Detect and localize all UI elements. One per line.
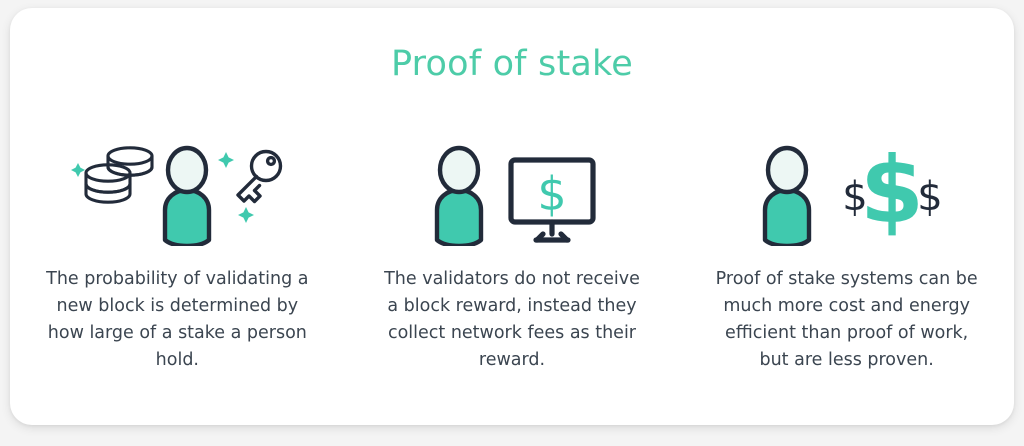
monitor-dollar-icon: $ [511, 160, 593, 240]
person-icon [765, 148, 809, 246]
sparkle-icon [218, 152, 234, 168]
caption-validators: The validators do not receive a block re… [377, 266, 647, 374]
columns-container: The probability of validating a new bloc… [10, 138, 1014, 374]
column-validators: $ The validators do not receive a block … [362, 138, 662, 374]
icon-group-validators: $ [424, 138, 600, 248]
proof-of-stake-card: Proof of stake [10, 8, 1014, 425]
column-efficiency: $ $ $ Proof of stake systems can be much… [697, 138, 997, 374]
coin-stack-icon [86, 148, 152, 202]
key-icon [238, 152, 281, 202]
caption-probability: The probability of validating a new bloc… [42, 266, 312, 374]
icon-group-efficiency: $ $ $ [752, 138, 942, 248]
dollar-sign-large-icon: $ [860, 140, 924, 244]
probability-icon-set [62, 140, 292, 246]
efficiency-icon-set: $ $ $ [752, 140, 942, 246]
caption-efficiency: Proof of stake systems can be much more … [712, 266, 982, 374]
dollar-sign-glyph: $ [537, 167, 566, 221]
icon-group-probability [62, 138, 292, 248]
sparkle-icon [71, 163, 85, 177]
page-title: Proof of stake [10, 44, 1014, 84]
person-icon [165, 148, 209, 246]
validators-icon-set: $ [424, 140, 600, 246]
dollar-sign-small-icon: $ [917, 174, 942, 220]
person-icon [437, 148, 481, 246]
column-probability: The probability of validating a new bloc… [27, 138, 327, 374]
sparkle-icon [238, 207, 254, 223]
